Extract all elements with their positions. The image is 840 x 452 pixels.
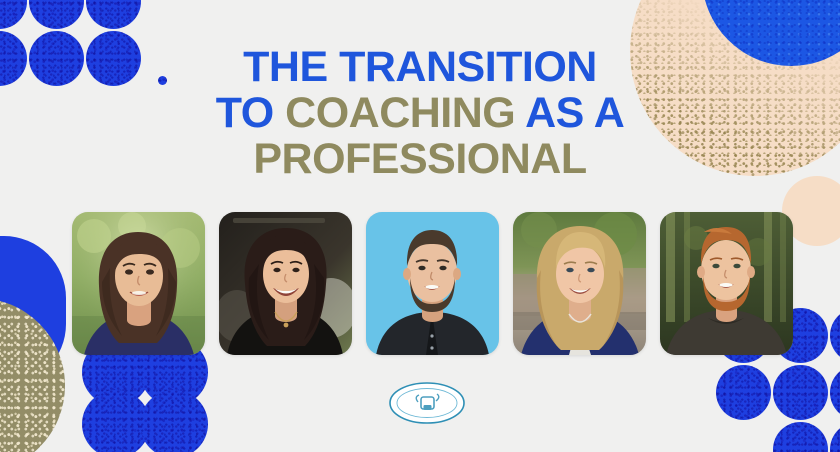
- title-segment: PROFESSIONAL: [253, 135, 586, 183]
- deco-circle: [716, 365, 771, 420]
- speaker-portrait-row: [72, 212, 793, 355]
- portrait-card-4[interactable]: [513, 212, 646, 355]
- blue-rounded-shape: [0, 236, 66, 386]
- title-line-1: THE TRANSITION: [0, 44, 840, 90]
- deco-circle: [140, 390, 208, 452]
- deco-circle: [86, 0, 141, 29]
- title-line-2: TO COACHING AS A: [0, 90, 840, 136]
- portrait-photo-2: [219, 212, 352, 355]
- coaching-association-logo[interactable]: [388, 381, 466, 425]
- logo-badge-icon: [388, 381, 466, 425]
- title-line-3: PROFESSIONAL: [0, 136, 840, 182]
- portrait-photo-3: [366, 212, 499, 355]
- portrait-card-2[interactable]: [219, 212, 352, 355]
- deco-circle: [773, 422, 828, 452]
- deco-circle: [773, 365, 828, 420]
- poster-canvas: THE TRANSITION TO COACHING AS A PROFESSI…: [0, 0, 840, 452]
- title-segment: TO: [216, 89, 285, 137]
- portrait-photo-5: [660, 212, 793, 355]
- portrait-photo-4: [513, 212, 646, 355]
- page-title: THE TRANSITION TO COACHING AS A PROFESSI…: [0, 44, 840, 182]
- portrait-card-3[interactable]: [366, 212, 499, 355]
- title-segment: THE TRANSITION: [243, 43, 597, 91]
- portrait-card-1[interactable]: [72, 212, 205, 355]
- deco-circle: [830, 365, 840, 420]
- olive-speckled-circle: [0, 298, 65, 452]
- deco-circle: [0, 0, 27, 29]
- deco-circle: [29, 0, 84, 29]
- deco-circle: [830, 422, 840, 452]
- title-segment: COACHING: [285, 89, 525, 137]
- portrait-card-5[interactable]: [660, 212, 793, 355]
- bottom-left-blue-circles: [82, 338, 262, 452]
- portrait-photo-1: [72, 212, 205, 355]
- title-segment: AS A: [525, 89, 624, 137]
- deco-circle: [830, 308, 840, 363]
- deco-circle: [82, 390, 150, 452]
